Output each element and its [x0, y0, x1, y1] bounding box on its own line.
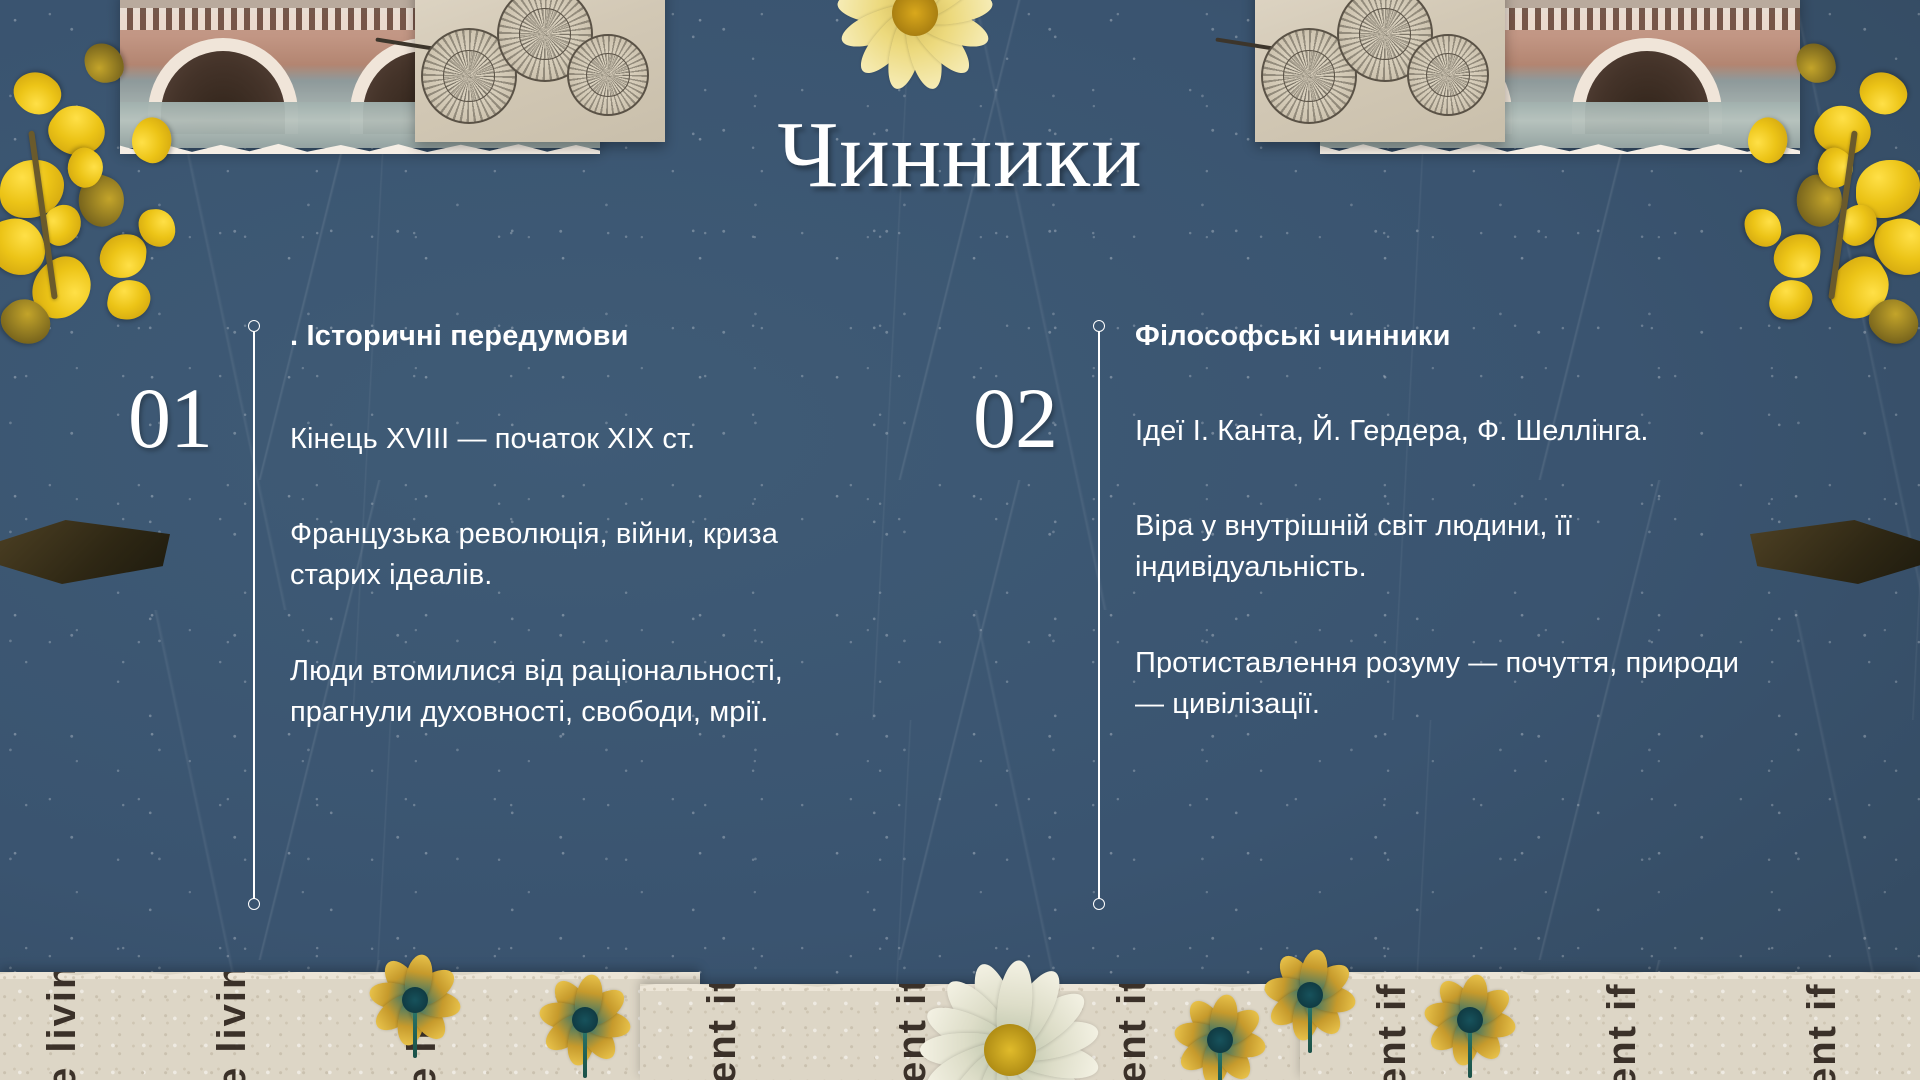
newsprint-text: ent it the item [700, 984, 745, 1080]
rule-dot-bottom-icon [248, 898, 260, 910]
flower-petal [105, 277, 153, 324]
flower-petal [1869, 212, 1920, 283]
newsprint-text: e living by ease t [210, 972, 255, 1080]
column-number-wrap: 01 [110, 375, 230, 461]
rule-line [253, 331, 255, 899]
column-divider-rule [247, 320, 261, 910]
column-number-wrap: 02 [955, 375, 1075, 461]
flower-petal [20, 248, 102, 328]
pressed-daisy-top [815, 0, 1015, 88]
column-divider-rule [1092, 320, 1106, 910]
flower-core [572, 1007, 598, 1033]
teal-gold-flower [360, 945, 470, 1055]
flower-petal [0, 212, 51, 283]
slide-canvas: Чинники 01 . Історичні передумови Кінець… [0, 0, 1920, 1080]
column-paragraph: Протиставлення розуму — почуття, природи… [1135, 643, 1745, 725]
flower-petal [0, 289, 58, 354]
rule-dot-bottom-icon [1093, 898, 1105, 910]
dried-leaf-right [1750, 520, 1920, 584]
newsprint-text: ent if you r you [1800, 972, 1845, 1080]
newsprint-text: ent if you r you [1370, 972, 1415, 1080]
rule-line [1098, 331, 1100, 899]
flower-petal [1832, 199, 1885, 251]
flower-core [402, 987, 428, 1013]
page-title: Чинники [0, 108, 1920, 202]
teal-gold-flower [530, 965, 640, 1075]
newsprint-text: ent if you r you [1600, 972, 1645, 1080]
flower-petal [36, 199, 89, 251]
teal-gold-flower [1415, 965, 1525, 1075]
column-heading: . Історичні передумови [290, 320, 850, 353]
column-paragraph: Люди втомилися від раціональності, прагн… [290, 651, 850, 733]
flower-petal [1818, 248, 1900, 328]
engraving-seedpod [567, 34, 649, 116]
pressed-daisy-bottom [880, 955, 1140, 1080]
daisy-core [984, 1024, 1036, 1076]
column-paragraph: Ідеї І. Канта, Й. Гердера, Ф. Шеллінга. [1135, 411, 1745, 452]
flower-petal [137, 207, 177, 249]
column-body: . Історичні передумови Кінець XVIII — по… [290, 320, 850, 733]
flower-petal [1862, 289, 1920, 354]
flower-petal [1743, 207, 1783, 249]
newsprint-strip-right: ent if you r you ent if you r you ent if… [1300, 972, 1920, 1080]
flower-petal [1772, 232, 1822, 280]
newsprint-text: e living by ease t [40, 972, 85, 1080]
column-paragraph: Віра у внутрішній світ людини, її індиві… [1135, 506, 1745, 588]
flower-core [1457, 1007, 1483, 1033]
flower-petal [98, 232, 148, 280]
teal-gold-flower [1255, 940, 1365, 1050]
flower-petal [1767, 277, 1815, 324]
column-number: 02 [955, 375, 1075, 461]
column-paragraph: Кінець XVIII — початок XIX ст. [290, 419, 850, 460]
flower-core [1207, 1027, 1233, 1053]
flower-petal [1794, 40, 1839, 87]
column-number: 01 [110, 375, 230, 461]
column-heading: Філософські чинники [1135, 320, 1745, 353]
column-body: Філософські чинники Ідеї І. Канта, Й. Ге… [1135, 320, 1745, 725]
dried-leaf-left [0, 520, 170, 584]
engraving-seedpod [1407, 34, 1489, 116]
flower-core [1297, 982, 1323, 1008]
column-paragraph: Французька революція, війни, криза стари… [290, 514, 850, 596]
